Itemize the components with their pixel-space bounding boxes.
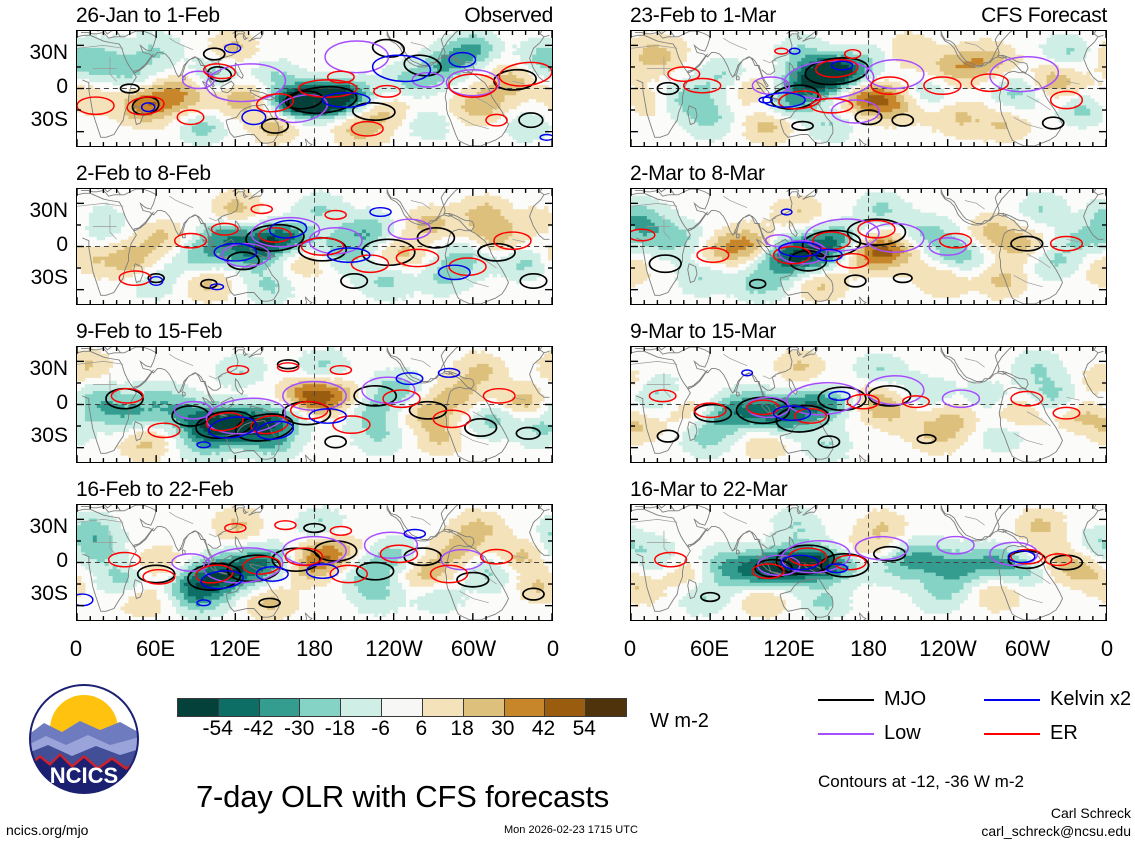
panel-observed-row1: 26-Jan to 1-FebObserved — [76, 4, 553, 147]
legend-item-er: ER — [984, 722, 1078, 745]
colorbar-swatch — [260, 699, 301, 716]
legend-line-kelvin — [984, 699, 1040, 701]
x-axis-tick-label: 60W — [1005, 636, 1050, 662]
y-axis-label: 0 — [2, 549, 68, 573]
main-title: 7-day OLR with CFS forecasts — [196, 779, 609, 815]
y-axis-label: 30N — [2, 199, 68, 223]
colorbar-tick-label: -18 — [325, 717, 355, 741]
olr-map — [76, 30, 553, 147]
olr-map — [630, 346, 1107, 463]
y-axis-label: 30N — [2, 357, 68, 381]
x-axis-tick-label: 120W — [919, 636, 976, 662]
colorbar-tick-label: 6 — [416, 717, 428, 741]
colorbar-tick-label: -6 — [371, 717, 390, 741]
colorbar-tick-label: 30 — [491, 717, 514, 741]
legend-label-er: ER — [1050, 722, 1078, 745]
ncics-logo-graphic: NCICS — [28, 683, 140, 795]
legend-line-low — [818, 733, 874, 735]
panel-title: 16-Feb to 22-Feb — [76, 478, 233, 502]
colorbar-swatch — [464, 699, 505, 716]
olr-map — [630, 30, 1107, 147]
colorbar-units-label: W m-2 — [650, 710, 709, 733]
legend-item-mjo: MJO — [818, 688, 926, 711]
colorbar-swatch — [341, 699, 382, 716]
panel-corner-label: Observed — [464, 4, 553, 28]
panel-corner-label: CFS Forecast — [981, 4, 1107, 28]
panel-observed-row4: 16-Feb to 22-Feb — [76, 478, 553, 621]
colorbar-tick-label: 42 — [532, 717, 555, 741]
panel-forecast-row4: 16-Mar to 22-Mar — [630, 478, 1107, 621]
panel-title: 26-Jan to 1-Feb — [76, 4, 220, 28]
x-axis-tick-label: 60E — [136, 636, 175, 662]
panel-observed-row3: 9-Feb to 15-Feb — [76, 320, 553, 463]
panel-forecast-row1: 23-Feb to 1-MarCFS Forecast — [630, 4, 1107, 147]
legend-item-kelvin: Kelvin x2 — [984, 688, 1131, 711]
y-axis-label: 30S — [2, 424, 68, 448]
y-axis-label: 30S — [2, 108, 68, 132]
panel-title: 9-Mar to 15-Mar — [630, 320, 776, 344]
legend-line-er — [984, 733, 1040, 735]
x-axis-tick-label: 120E — [763, 636, 814, 662]
legend-label-mjo: MJO — [884, 688, 926, 711]
x-axis-tick-label: 0 — [624, 636, 636, 662]
y-axis-label: 0 — [2, 391, 68, 415]
panel-title: 23-Feb to 1-Mar — [630, 4, 776, 28]
colorbar-tick-label: -54 — [203, 717, 233, 741]
x-axis-tick-label: 0 — [1101, 636, 1113, 662]
colorbar-tick-label: 18 — [450, 717, 473, 741]
panel-observed-row2: 2-Feb to 8-Feb — [76, 162, 553, 305]
panel-forecast-row3: 9-Mar to 15-Mar — [630, 320, 1107, 463]
colorbar-tick-label: -30 — [284, 717, 314, 741]
x-axis-tick-label: 60W — [451, 636, 496, 662]
colorbar-swatch — [178, 699, 219, 716]
footer-timestamp: Mon 2026-02-23 1715 UTC — [504, 824, 638, 836]
y-axis-label: 0 — [2, 233, 68, 257]
colorbar-tick-labels: -54-42-30-18-6618304254 — [177, 717, 625, 743]
x-axis-tick-label: 60E — [690, 636, 729, 662]
x-axis-tick-label: 0 — [70, 636, 82, 662]
panel-title: 16-Mar to 22-Mar — [630, 478, 787, 502]
contour-legend: MJO Kelvin x2 Low ER — [818, 688, 1118, 758]
olr-map — [630, 188, 1107, 305]
colorbar-swatch — [586, 699, 626, 716]
legend-line-mjo — [818, 699, 874, 701]
y-axis-label: 30N — [2, 515, 68, 539]
legend-item-low: Low — [818, 722, 921, 745]
footer-site-link[interactable]: ncics.org/mjo — [6, 822, 88, 838]
olr-map — [630, 504, 1107, 621]
colorbar-tick-label: -42 — [243, 717, 273, 741]
x-axis-right: 060E120E180120W60W0 — [630, 636, 1107, 662]
footer-author-email[interactable]: carl_schreck@ncsu.edu — [905, 823, 1131, 839]
legend-label-kelvin: Kelvin x2 — [1050, 688, 1131, 711]
colorbar-swatch — [382, 699, 423, 716]
contour-levels-note: Contours at -12, -36 W m-2 — [818, 772, 1024, 792]
x-axis-tick-label: 180 — [850, 636, 887, 662]
x-axis-tick-label: 120W — [365, 636, 422, 662]
x-axis-tick-label: 180 — [296, 636, 333, 662]
panel-title: 2-Mar to 8-Mar — [630, 162, 765, 186]
colorbar-swatch — [219, 699, 260, 716]
colorbar-swatch — [300, 699, 341, 716]
y-axis-label: 30N — [2, 41, 68, 65]
panel-title: 9-Feb to 15-Feb — [76, 320, 222, 344]
y-axis-label: 30S — [2, 582, 68, 606]
legend-label-low: Low — [884, 722, 921, 745]
x-axis-tick-label: 120E — [209, 636, 260, 662]
x-axis-tick-label: 0 — [547, 636, 559, 662]
colorbar-tick-label: 54 — [573, 717, 596, 741]
olr-map — [76, 346, 553, 463]
olr-map — [76, 504, 553, 621]
colorbar-swatch — [505, 699, 546, 716]
footer-author-name: Carl Schreck — [905, 805, 1131, 821]
panel-forecast-row2: 2-Mar to 8-Mar — [630, 162, 1107, 305]
colorbar-swatch — [423, 699, 464, 716]
ncics-logo: NCICS — [28, 683, 140, 795]
colorbar: -54-42-30-18-6618304254 — [177, 698, 625, 748]
panel-title: 2-Feb to 8-Feb — [76, 162, 211, 186]
colorbar-swatch — [545, 699, 586, 716]
olr-map — [76, 188, 553, 305]
colorbar-swatches — [177, 698, 627, 717]
x-axis-left: 060E120E180120W60W0 — [76, 636, 553, 662]
y-axis-label: 30S — [2, 266, 68, 290]
y-axis-label: 0 — [2, 75, 68, 99]
figure-root: 26-Jan to 1-FebObserved23-Feb to 1-MarCF… — [0, 0, 1135, 844]
